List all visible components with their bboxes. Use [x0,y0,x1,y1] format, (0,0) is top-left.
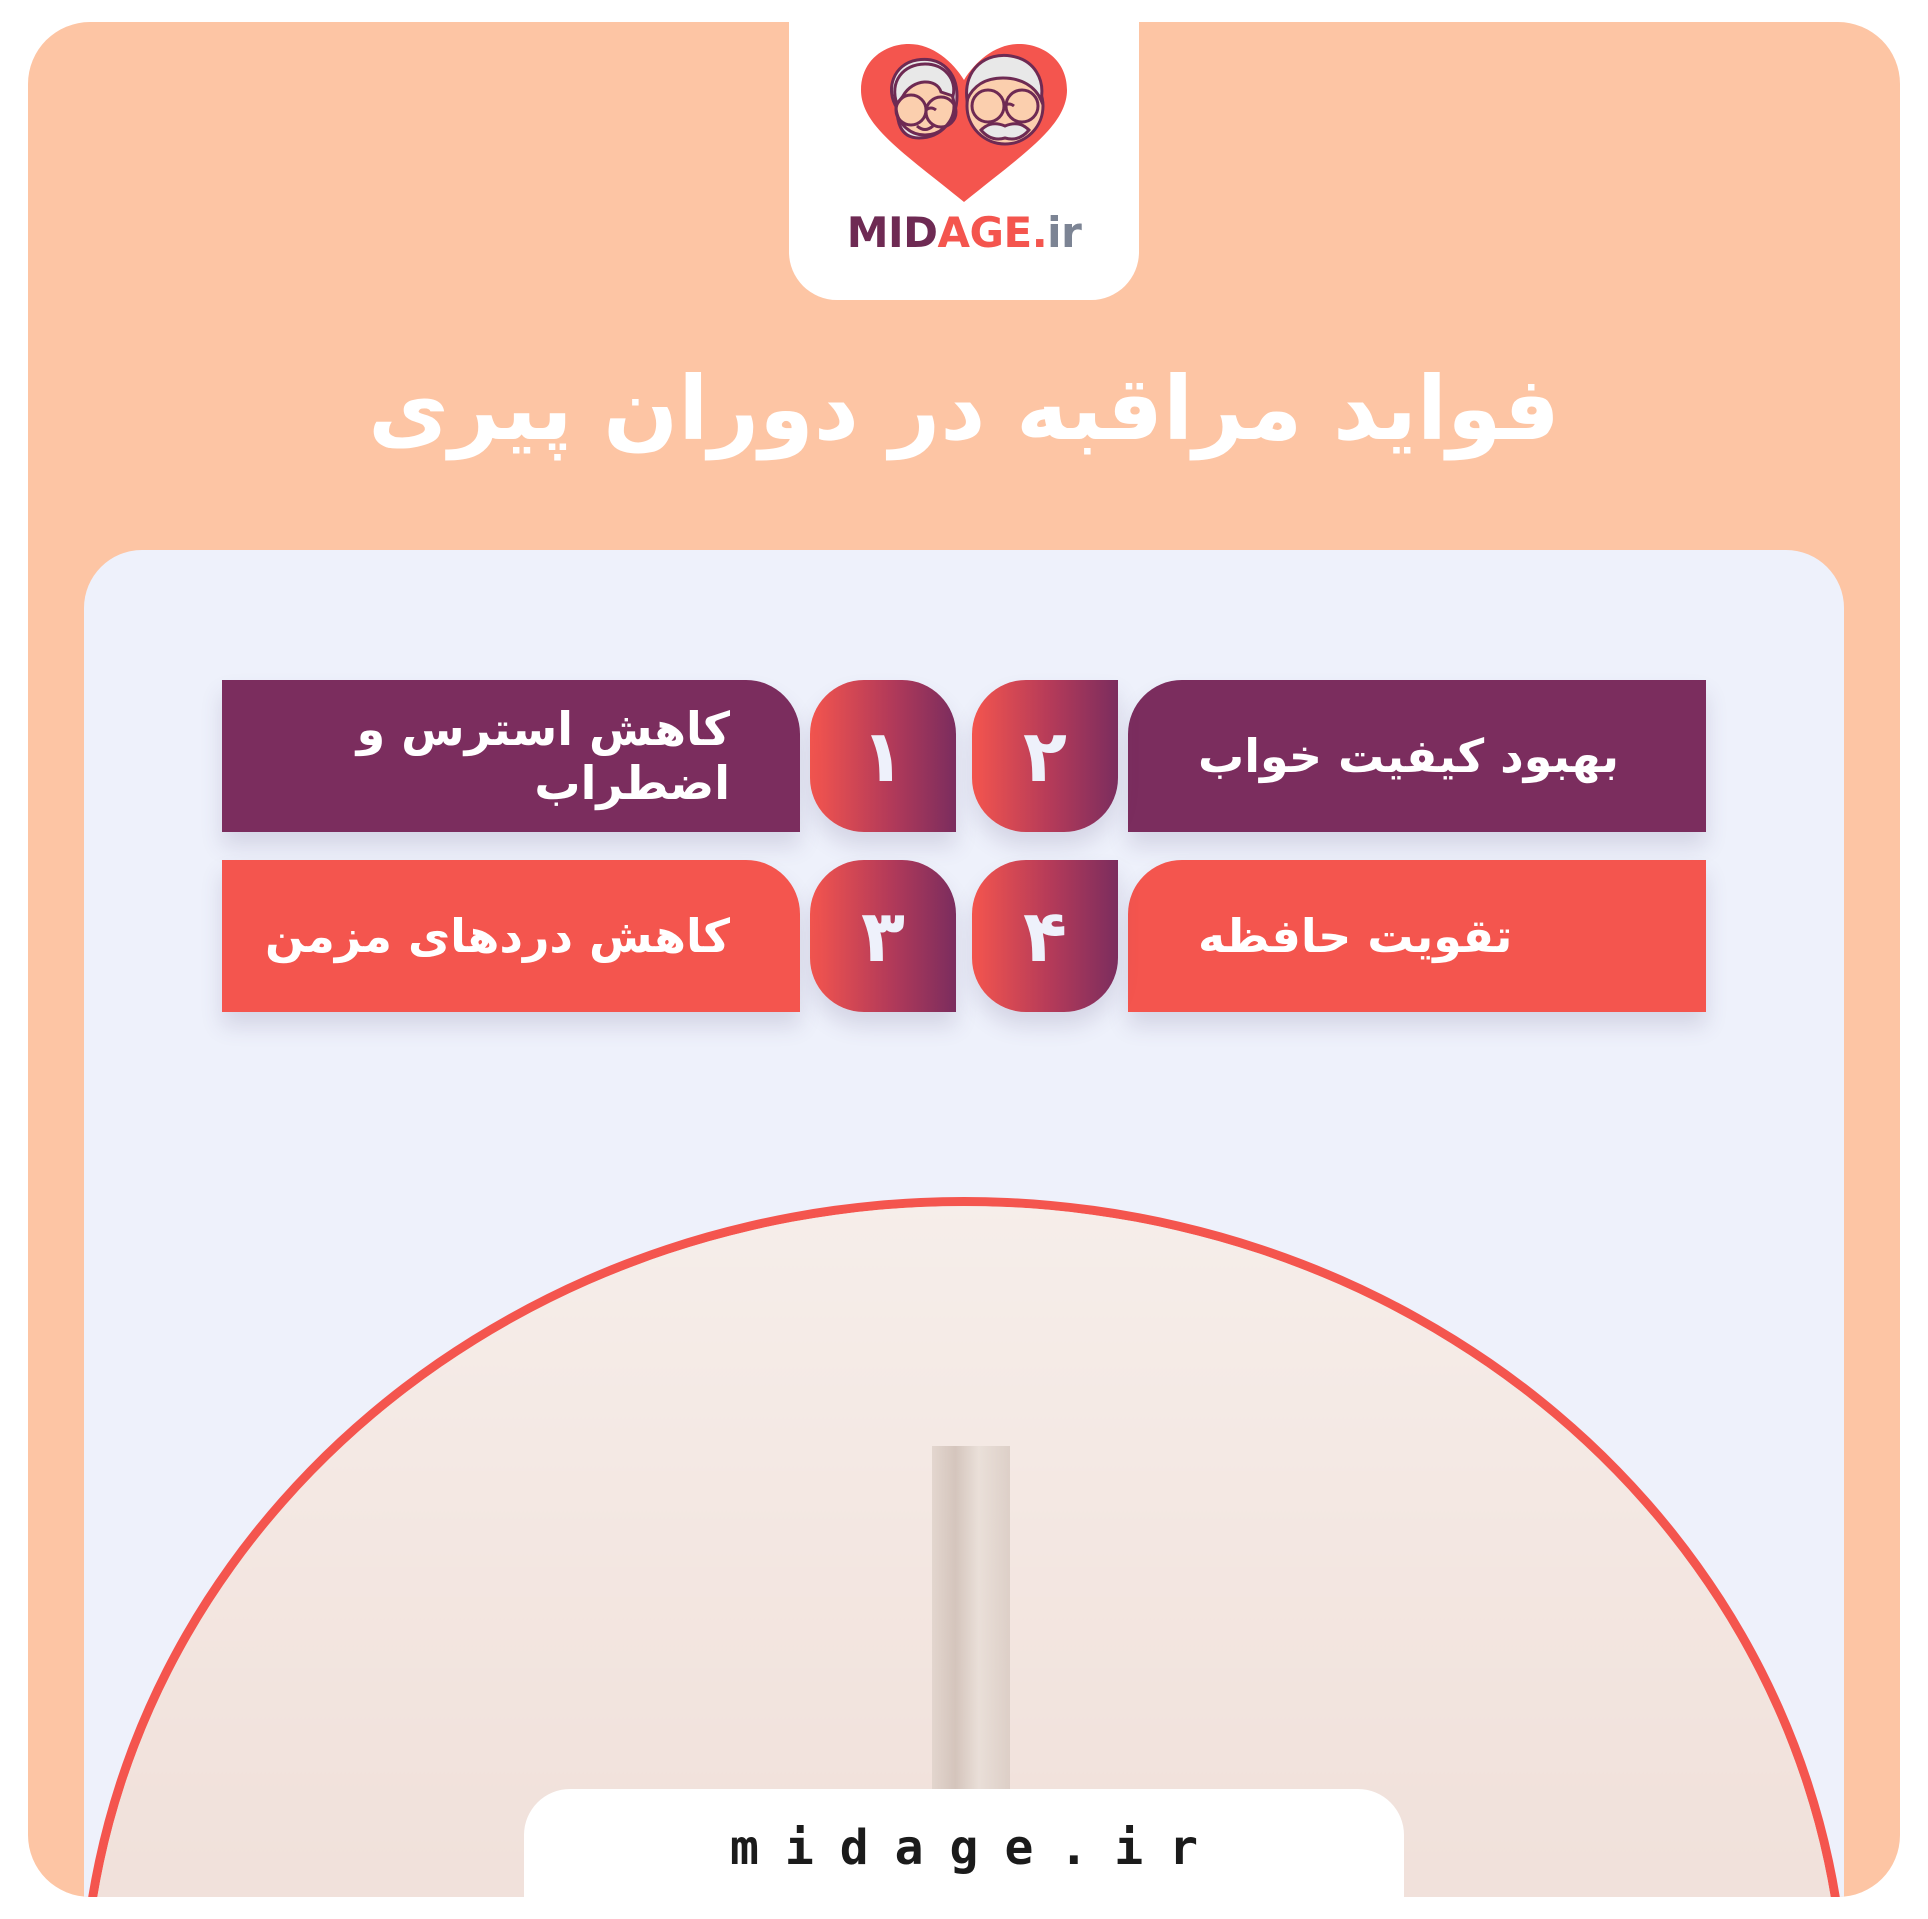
brand-word-ir: ir [1047,208,1081,257]
benefit-bar-1[interactable]: کاهش استرس و اضطراب [222,680,800,832]
benefit-number-1: ۱ [861,720,905,792]
benefit-bar-2[interactable]: بهبود کیفیت خواب [1128,680,1706,832]
elderly-couple-heart-logo-icon [845,34,1083,210]
page-title: فواید مراقبه در دوران پیری [28,354,1900,464]
poster-card: MIDAGE.ir فواید مراقبه در دوران پیری بهب… [28,22,1900,1897]
brand-logo-tab: MIDAGE.ir [789,22,1139,300]
brand-word-dot: . [1032,208,1047,257]
benefits-grid: بهبود کیفیت خواب ۲ ۱ کاهش استرس و اضطراب… [84,680,1844,1040]
content-panel: بهبود کیفیت خواب ۲ ۱ کاهش استرس و اضطراب… [84,550,1844,1897]
benefit-bar-3[interactable]: کاهش دردهای مزمن [222,860,800,1012]
footer-site-url[interactable]: midage.ir [704,1820,1224,1876]
benefits-row-1: بهبود کیفیت خواب ۲ ۱ کاهش استرس و اضطراب [84,680,1844,832]
brand-word-mid: MID [847,208,938,257]
benefit-number-badge-2: ۲ [972,680,1118,832]
benefit-number-4: ۴ [1023,900,1067,972]
benefit-bar-4[interactable]: تقویت حافظه [1128,860,1706,1012]
benefit-number-2: ۲ [1023,720,1067,792]
benefit-label-4: تقویت حافظه [1198,909,1512,963]
footer-site-pill: midage.ir [524,1789,1404,1897]
benefit-number-badge-4: ۴ [972,860,1118,1012]
benefit-number-badge-3: ۳ [810,860,956,1012]
benefits-row-2: تقویت حافظه ۴ ۳ کاهش دردهای مزمن [84,860,1844,1012]
benefit-number-3: ۳ [861,900,905,972]
brand-word-age: AGE [938,208,1032,257]
benefit-label-2: بهبود کیفیت خواب [1198,729,1619,783]
benefit-number-badge-1: ۱ [810,680,956,832]
brand-wordmark: MIDAGE.ir [847,212,1082,254]
benefit-label-3: کاهش دردهای مزمن [265,909,730,963]
benefit-label-1: کاهش استرس و اضطراب [222,702,730,810]
